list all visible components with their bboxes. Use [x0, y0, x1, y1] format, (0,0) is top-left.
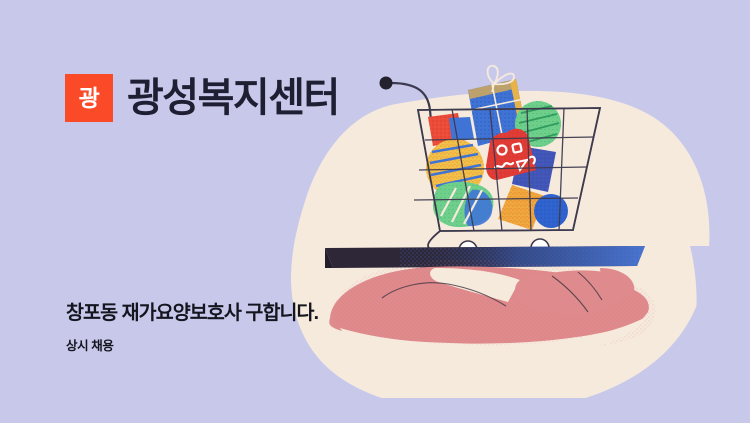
job-headline: 창포동 재가요양보호사 구합니다. [66, 302, 318, 325]
page-title: 광성복지센터 [127, 78, 339, 118]
bottom-mask [0, 398, 750, 423]
item-green-blue-blob [433, 182, 493, 227]
promo-banner: 광 광성복지센터 창포동 재가요양보호사 구합니다. 상시 채용 [0, 0, 750, 423]
handle-knob [380, 77, 393, 90]
illustration [0, 0, 750, 423]
brand-badge: 광 [65, 74, 113, 122]
job-copy-block: 창포동 재가요양보호사 구합니다. 상시 채용 [66, 302, 318, 354]
brand-lockup: 광 광성복지센터 [65, 74, 339, 122]
job-subline: 상시 채용 [66, 339, 318, 354]
